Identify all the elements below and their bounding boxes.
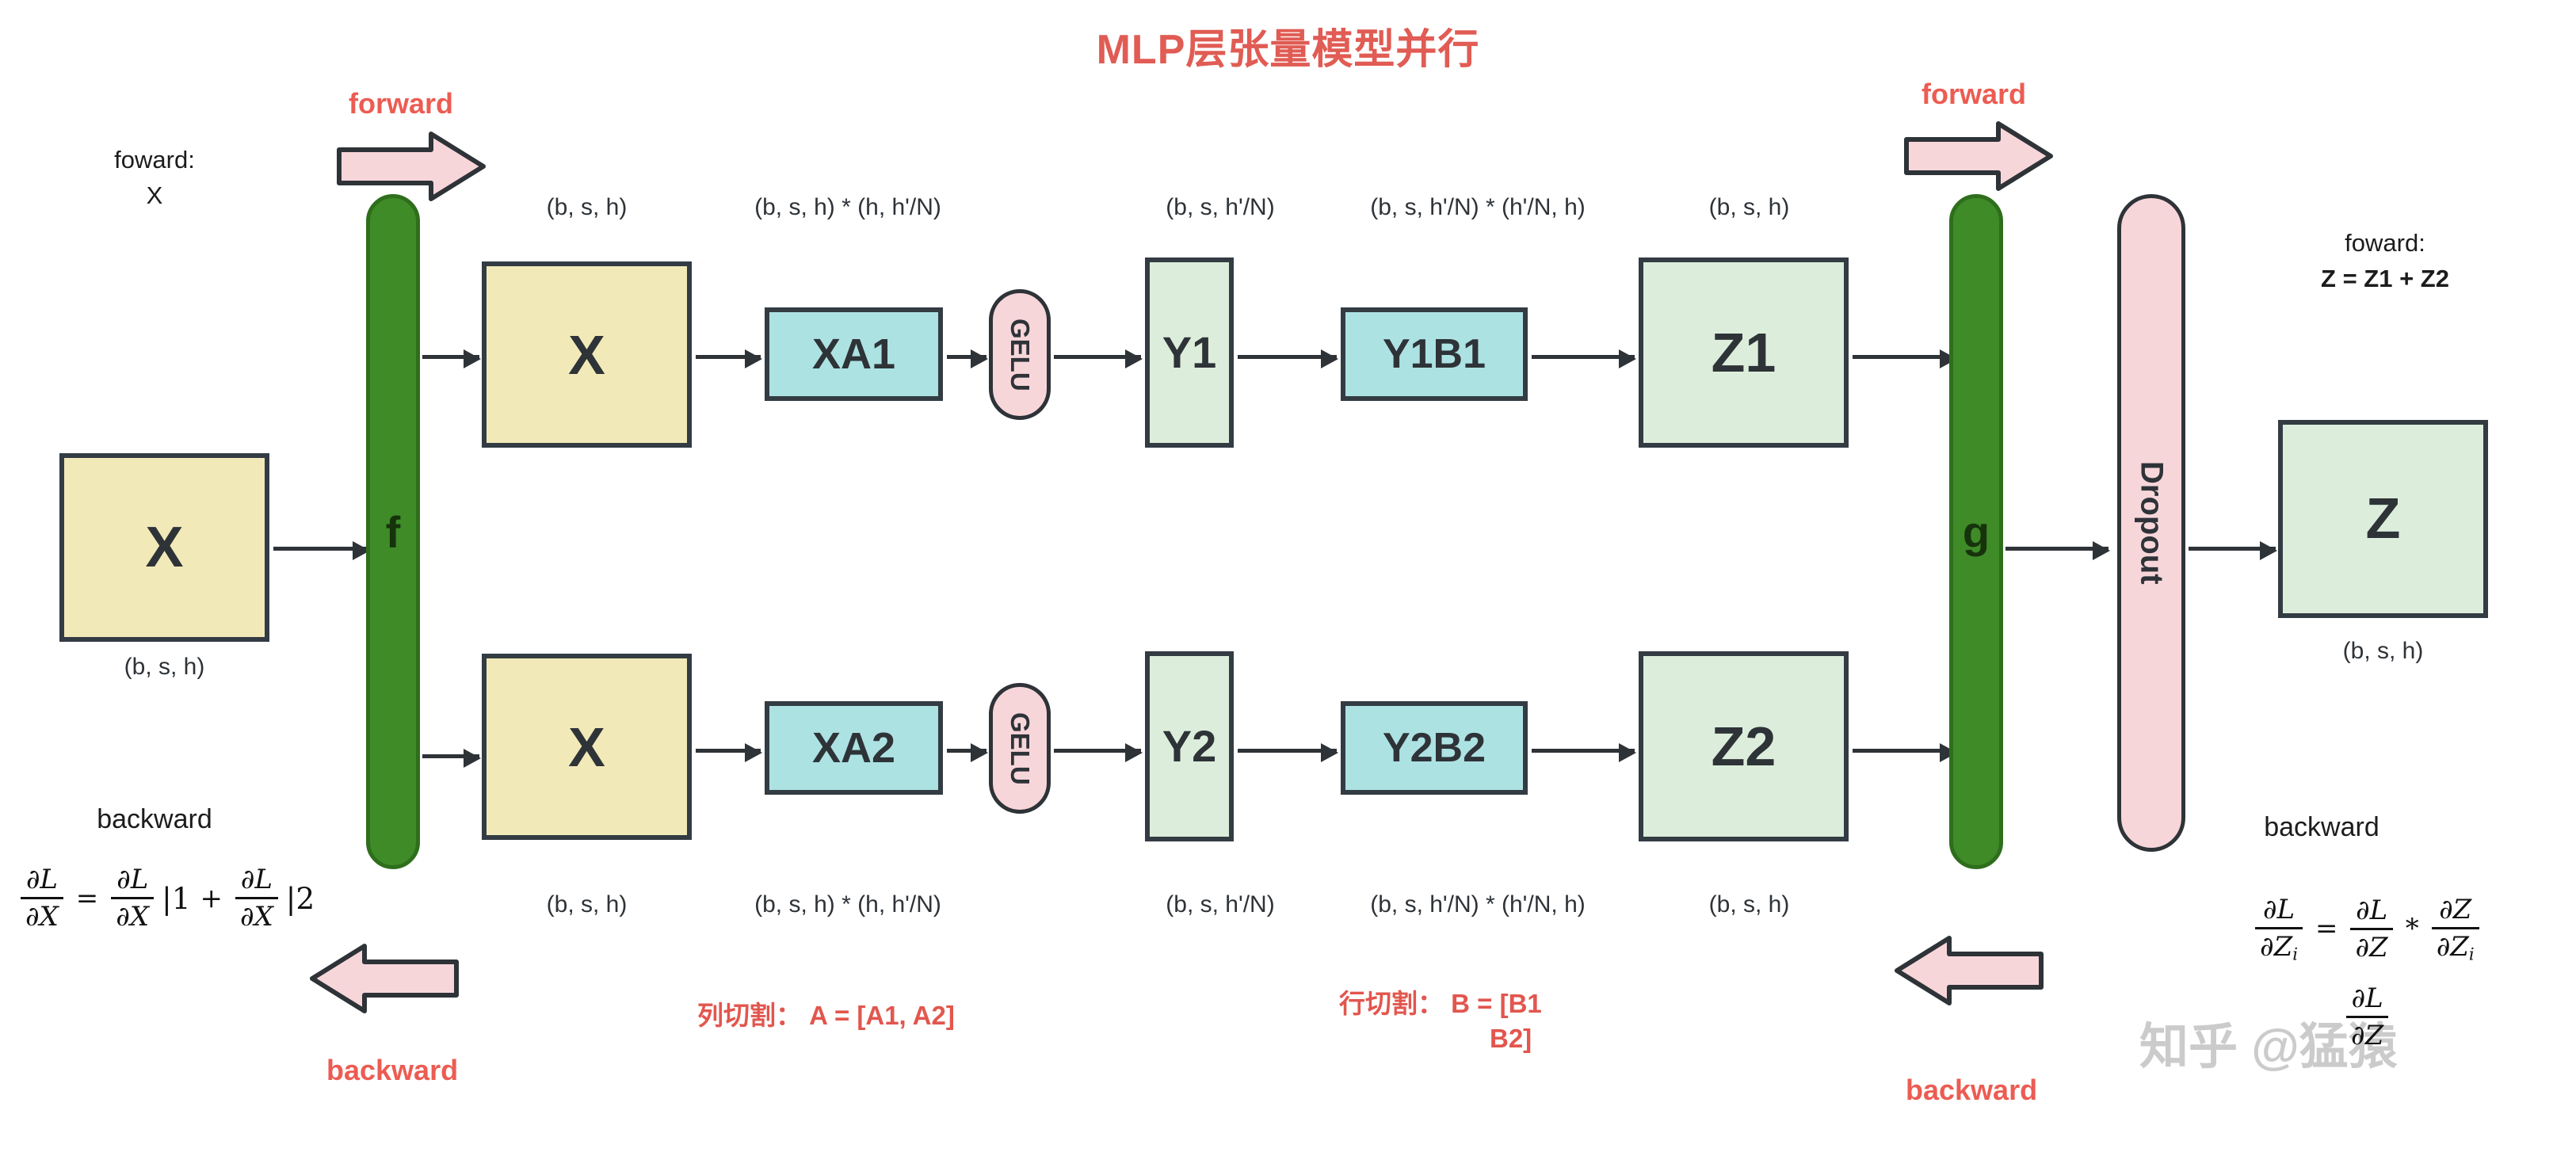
node-x2[interactable]: X — [482, 654, 692, 840]
backward-title-left: backward — [44, 800, 265, 839]
connector-xa2-to-gelu2 — [947, 749, 987, 753]
backward-block-arrow-left — [309, 943, 460, 1014]
formula-left-t2-bar: |2 — [286, 881, 315, 916]
connector-f-to-x1 — [422, 355, 479, 359]
formula-left-t1-den: ∂X — [111, 897, 154, 933]
connector-x1-to-xa1 — [696, 355, 761, 359]
node-y1[interactable]: Y1 — [1145, 258, 1234, 448]
connector-y1-to-y1b1 — [1238, 355, 1337, 359]
node-xa1-label: XA1 — [812, 333, 895, 376]
node-x1[interactable]: X — [482, 261, 692, 448]
forward-label-left: forward — [349, 87, 453, 120]
formula-backward-right: ∂L ∂Zi = ∂L ∂Z * ∂Z ∂Zi — [2250, 894, 2484, 963]
dim-bottom-y2b2: (b, s, h'/N) * (h'/N, h) — [1315, 891, 1640, 918]
formula-right-t2-den: ∂Z — [2437, 931, 2469, 963]
dim-top-y1b1: (b, s, h'/N) * (h'/N, h) — [1315, 194, 1640, 221]
node-dropout-label: Dropout — [2134, 461, 2170, 585]
foward-note-left-line1: foward: — [48, 143, 261, 178]
node-y2b2-label: Y2B2 — [1383, 727, 1486, 769]
formula-left-lhs: ∂L ∂X — [21, 864, 63, 933]
node-y1b1-label: Y1B1 — [1383, 334, 1486, 375]
node-f-gate-label: f — [386, 506, 401, 558]
dim-top-x1: (b, s, h) — [482, 194, 692, 221]
connector-y2-to-y2b2 — [1238, 749, 1337, 753]
node-f-gate[interactable]: f — [366, 194, 420, 869]
formula-right-lhs-den-wrap: ∂Zi — [2255, 927, 2303, 963]
node-input-x[interactable]: X — [59, 453, 269, 642]
connector-gelu2-to-y2 — [1054, 749, 1141, 753]
connector-g-to-dropout — [2005, 547, 2109, 551]
foward-note-right: foward: Z = Z1 + Z2 — [2219, 226, 2551, 297]
node-z2-label: Z2 — [1712, 719, 1776, 774]
formula-right-lhs: ∂L ∂Zi — [2255, 894, 2303, 963]
dim-bottom-y2: (b, s, h'/N) — [1113, 891, 1327, 918]
forward-block-arrow-right — [1903, 120, 2054, 192]
node-gelu2[interactable]: GELU — [989, 683, 1051, 814]
formula-left-term2: ∂L ∂X — [235, 864, 278, 933]
dim-bottom-xa2: (b, s, h) * (h, h'/N) — [717, 891, 979, 918]
dim-output-z: (b, s, h) — [2278, 638, 2488, 665]
formula-right-t1-den: ∂Z — [2350, 928, 2392, 963]
formula-right-lhs-den: ∂Z — [2260, 931, 2292, 963]
backward-title-right: backward — [2211, 808, 2433, 847]
formula-right-t2-sub: i — [2469, 944, 2475, 963]
connector-f-to-x2 — [422, 754, 479, 758]
dim-bottom-x2: (b, s, h) — [482, 891, 692, 918]
formula-right-t2-den-wrap: ∂Zi — [2432, 927, 2479, 963]
foward-note-right-line1: foward: — [2219, 226, 2551, 261]
formula-left-eq: = — [76, 883, 99, 914]
node-y1-label: Y1 — [1162, 330, 1217, 375]
formula-left-t1-num: ∂L — [112, 864, 153, 897]
dim-bottom-z2: (b, s, h) — [1644, 891, 1854, 918]
dim-top-z1: (b, s, h) — [1644, 194, 1854, 221]
node-g-gate-label: g — [1963, 506, 1990, 558]
forward-label-right: forward — [1922, 78, 2026, 111]
node-z2[interactable]: Z2 — [1639, 651, 1849, 841]
node-y2-label: Y2 — [1162, 724, 1217, 769]
formula-right-term1: ∂L ∂Z — [2350, 895, 2392, 963]
node-x1-label: X — [568, 327, 605, 383]
node-x2-label: X — [568, 719, 605, 775]
node-output-z[interactable]: Z — [2278, 420, 2488, 618]
formula-right-lhs-num: ∂L — [2258, 894, 2299, 927]
formula-left-t2-num: ∂L — [236, 864, 277, 897]
formula-backward-right-line2: ∂L ∂Z — [2341, 982, 2393, 1051]
node-input-x-label: X — [145, 519, 183, 576]
node-y2[interactable]: Y2 — [1145, 651, 1234, 841]
node-y2b2[interactable]: Y2B2 — [1341, 701, 1528, 795]
connector-y1b1-to-z1 — [1532, 355, 1635, 359]
foward-note-left: foward: X — [48, 143, 261, 214]
formula-right-term2: ∂Z ∂Zi — [2432, 894, 2479, 963]
formula-right-mul: * — [2406, 913, 2419, 944]
formula-backward-left: ∂L ∂X = ∂L ∂X |1 + ∂L ∂X |2 — [16, 864, 316, 933]
connector-gelu1-to-y1 — [1054, 355, 1141, 359]
formula-right-line2: ∂L ∂Z — [2346, 982, 2388, 1051]
formula-left-term1: ∂L ∂X — [111, 864, 154, 933]
formula-left-t1-bar: |1 — [162, 881, 190, 916]
formula-right-line2-num: ∂L — [2347, 982, 2388, 1016]
foward-note-right-line2: Z = Z1 + Z2 — [2219, 261, 2551, 297]
connector-xa1-to-gelu1 — [947, 355, 987, 359]
backward-label-left: backward — [326, 1054, 458, 1087]
forward-block-arrow-left — [336, 131, 487, 202]
node-xa2[interactable]: XA2 — [765, 701, 943, 795]
formula-right-eq: = — [2315, 913, 2338, 944]
dim-top-xa1: (b, s, h) * (h, h'/N) — [717, 194, 979, 221]
backward-label-right: backward — [1906, 1074, 2037, 1107]
page-title: MLP层张量模型并行 — [0, 16, 2576, 75]
diagram-canvas: MLP层张量模型并行 forward foward: X X (b, s, h)… — [0, 0, 2576, 1156]
formula-left-lhs-num: ∂L — [21, 864, 63, 897]
formula-right-line2-den: ∂Z — [2346, 1016, 2388, 1051]
formula-left-plus: + — [200, 883, 223, 914]
column-split-note: 列切割： A = [A1, A2] — [697, 994, 955, 1032]
dim-top-y1: (b, s, h'/N) — [1113, 194, 1327, 221]
connector-y2b2-to-z2 — [1532, 749, 1635, 753]
node-dropout[interactable]: Dropout — [2117, 194, 2185, 852]
connector-x-to-f — [273, 547, 368, 551]
formula-right-lhs-sub: i — [2292, 944, 2298, 963]
node-y1b1[interactable]: Y1B1 — [1341, 307, 1528, 401]
formula-right-t1-num: ∂L — [2351, 895, 2392, 928]
node-gelu2-label: GELU — [1005, 712, 1035, 785]
node-z1-label: Z1 — [1712, 325, 1776, 380]
connector-x2-to-xa2 — [696, 749, 761, 753]
dim-input-x: (b, s, h) — [59, 654, 269, 681]
row-split-note-line2: B2] — [1490, 1024, 1532, 1054]
node-xa1[interactable]: XA1 — [765, 307, 943, 401]
formula-left-t2-den: ∂X — [235, 897, 278, 933]
node-output-z-label: Z — [2366, 490, 2401, 547]
backward-block-arrow-right — [1894, 935, 2044, 1006]
node-gelu1[interactable]: GELU — [989, 289, 1051, 420]
node-g-gate[interactable]: g — [1949, 194, 2003, 869]
formula-left-lhs-den: ∂X — [21, 897, 63, 933]
connector-dropout-to-z — [2189, 547, 2276, 551]
connector-z2-to-g — [1853, 749, 1956, 753]
node-gelu1-label: GELU — [1005, 319, 1035, 391]
foward-note-left-line2: X — [48, 178, 261, 214]
connector-z1-to-g — [1853, 355, 1956, 359]
node-xa2-label: XA2 — [812, 727, 895, 769]
formula-right-t2-num: ∂Z — [2434, 894, 2476, 927]
node-z1[interactable]: Z1 — [1639, 258, 1849, 448]
row-split-note-line1: 行切割： B = [B1 — [1339, 982, 1542, 1021]
